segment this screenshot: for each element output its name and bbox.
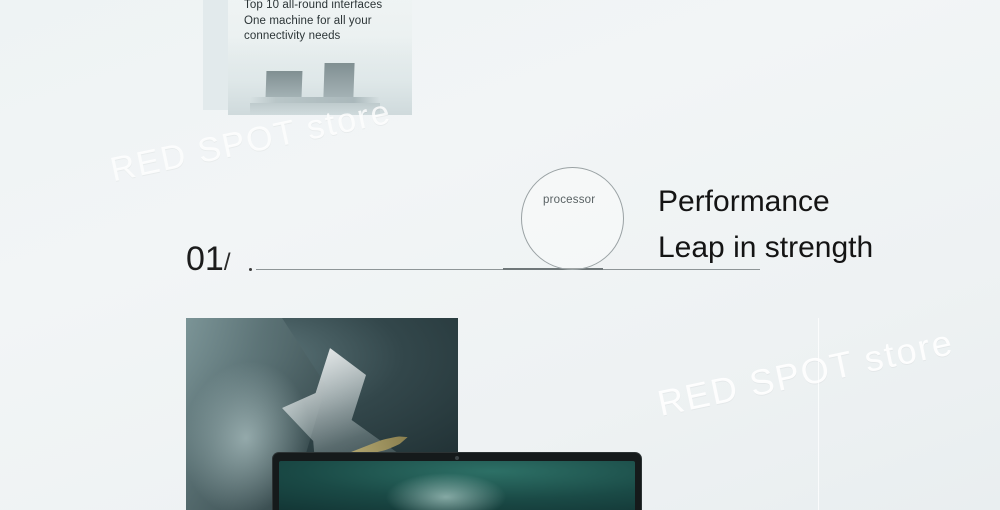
watermark-bottom: RED SPOT store [654, 321, 958, 425]
product-promo-page: Top 10 all-round interfaces One machine … [0, 0, 1000, 510]
processor-label: processor [543, 194, 595, 206]
laptop-screen [279, 461, 635, 510]
section-rule-dot [249, 268, 252, 271]
section-rule-accent [503, 268, 603, 270]
top-card-line-1: Top 10 all-round interfaces [244, 0, 399, 14]
top-card-laptop-scene [228, 37, 412, 115]
top-card-line-2: One machine for all your [244, 14, 399, 30]
section-number: 01/ [186, 240, 231, 282]
laptop-product-image [272, 452, 642, 510]
section-number-value: 01 [186, 240, 224, 278]
laptop-silhouette-right [323, 63, 354, 97]
laptop-reflection [250, 103, 380, 115]
layout-guide-line [818, 318, 819, 510]
section-heading-line-1: Performance [658, 185, 830, 219]
processor-circle [521, 167, 624, 270]
laptop-screen-glow [386, 473, 506, 510]
laptop-silhouette-left [266, 71, 303, 97]
section-number-slash: / [224, 249, 231, 276]
top-product-card: Top 10 all-round interfaces One machine … [228, 0, 412, 115]
laptop-camera-icon [455, 456, 459, 460]
section-heading-line-2: Leap in strength [658, 231, 873, 265]
